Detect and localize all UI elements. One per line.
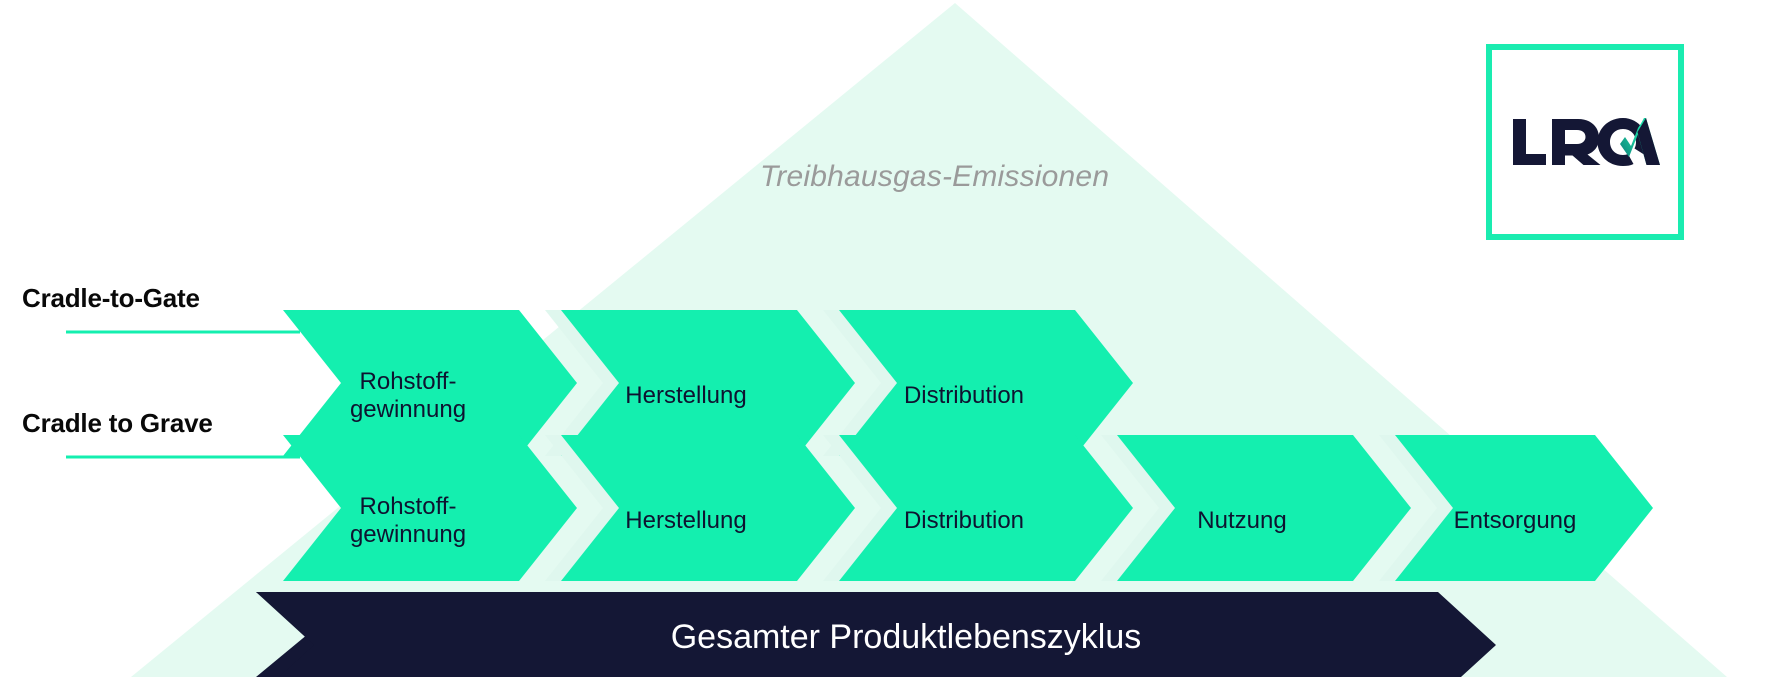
lrqa-logo [1492,50,1678,234]
chevron-row2-entsorgung [1395,435,1653,581]
lrqa-logo-box [1486,44,1684,240]
diagram-canvas: Treibhausgas-Emissionen Cradle-to-Gate C… [0,0,1781,677]
lrqa-logo-icon [1510,114,1660,170]
chevron-row2-rohstoffgewinnung [283,435,577,581]
chevron-row1-rohstoffgewinnung [283,310,577,456]
lifecycle-bar-shape-main [256,592,1496,677]
